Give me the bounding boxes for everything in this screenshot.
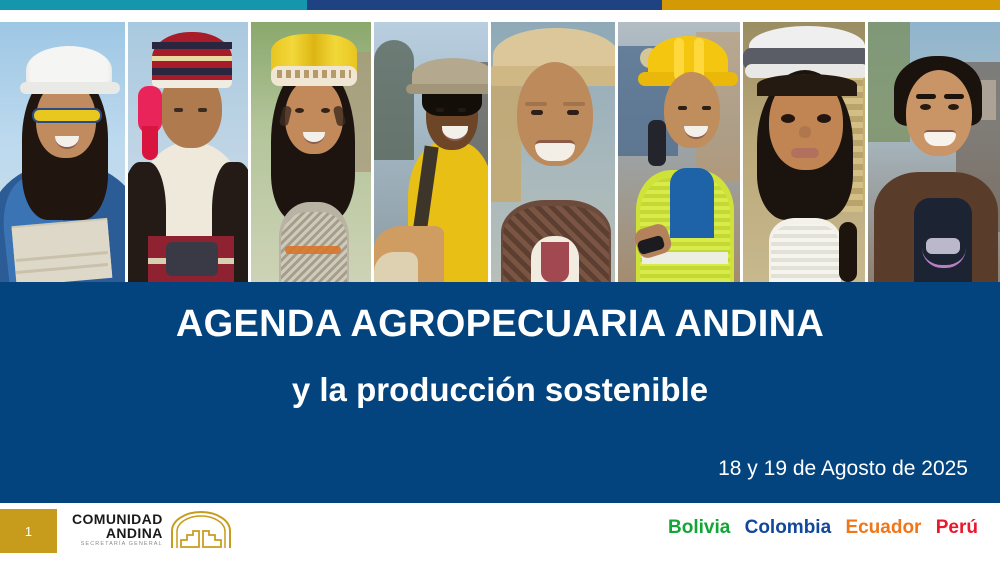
country-bolivia: Bolivia (668, 517, 730, 538)
title-band: AGENDA AGROPECUARIA ANDINA y la producci… (0, 282, 1000, 503)
logo-line-comunidad: COMUNIDAD (72, 512, 163, 526)
photo-panel-market-man (374, 22, 487, 282)
logo-line-secretaria: SECRETARÍA GENERAL (72, 542, 163, 548)
event-date: 18 y 19 de Agosto de 2025 (718, 457, 968, 481)
photo-panel-elder-woman (491, 22, 615, 282)
page-title: AGENDA AGROPECUARIA ANDINA (0, 304, 1000, 346)
photo-panel-andean-girl (743, 22, 865, 282)
presentation-slide: AGENDA AGROPECUARIA ANDINA y la producci… (0, 0, 1000, 562)
member-countries: Bolivia Colombia Ecuador Perú (659, 517, 978, 539)
country-colombia: Colombia (745, 517, 832, 538)
top-bar-segment-blue (307, 0, 662, 10)
photo-panel-andean-weaver (128, 22, 248, 282)
top-accent-bar (0, 0, 1000, 10)
top-bar-segment-gold (662, 0, 1000, 10)
page-number-badge: 1 (0, 509, 57, 553)
top-bar-segment-teal (0, 0, 307, 10)
slide-footer: 1 COMUNIDAD ANDINA SECRETARÍA GENERAL (0, 503, 1000, 562)
page-subtitle: y la producción sostenible (0, 372, 1000, 408)
comunidad-andina-logo: COMUNIDAD ANDINA SECRETARÍA GENERAL (72, 511, 232, 549)
logo-wordmark: COMUNIDAD ANDINA SECRETARÍA GENERAL (72, 512, 163, 548)
andean-arch-icon (170, 511, 232, 549)
photo-strip (0, 22, 1000, 282)
photo-panel-woman-engineer (0, 22, 125, 282)
photo-panel-construction-worker (618, 22, 740, 282)
country-ecuador: Ecuador (845, 517, 921, 538)
photo-panel-young-man (868, 22, 1000, 282)
country-peru: Perú (936, 517, 978, 538)
logo-line-andina: ANDINA (72, 526, 163, 540)
photo-panel-amazonian-woman (251, 22, 371, 282)
